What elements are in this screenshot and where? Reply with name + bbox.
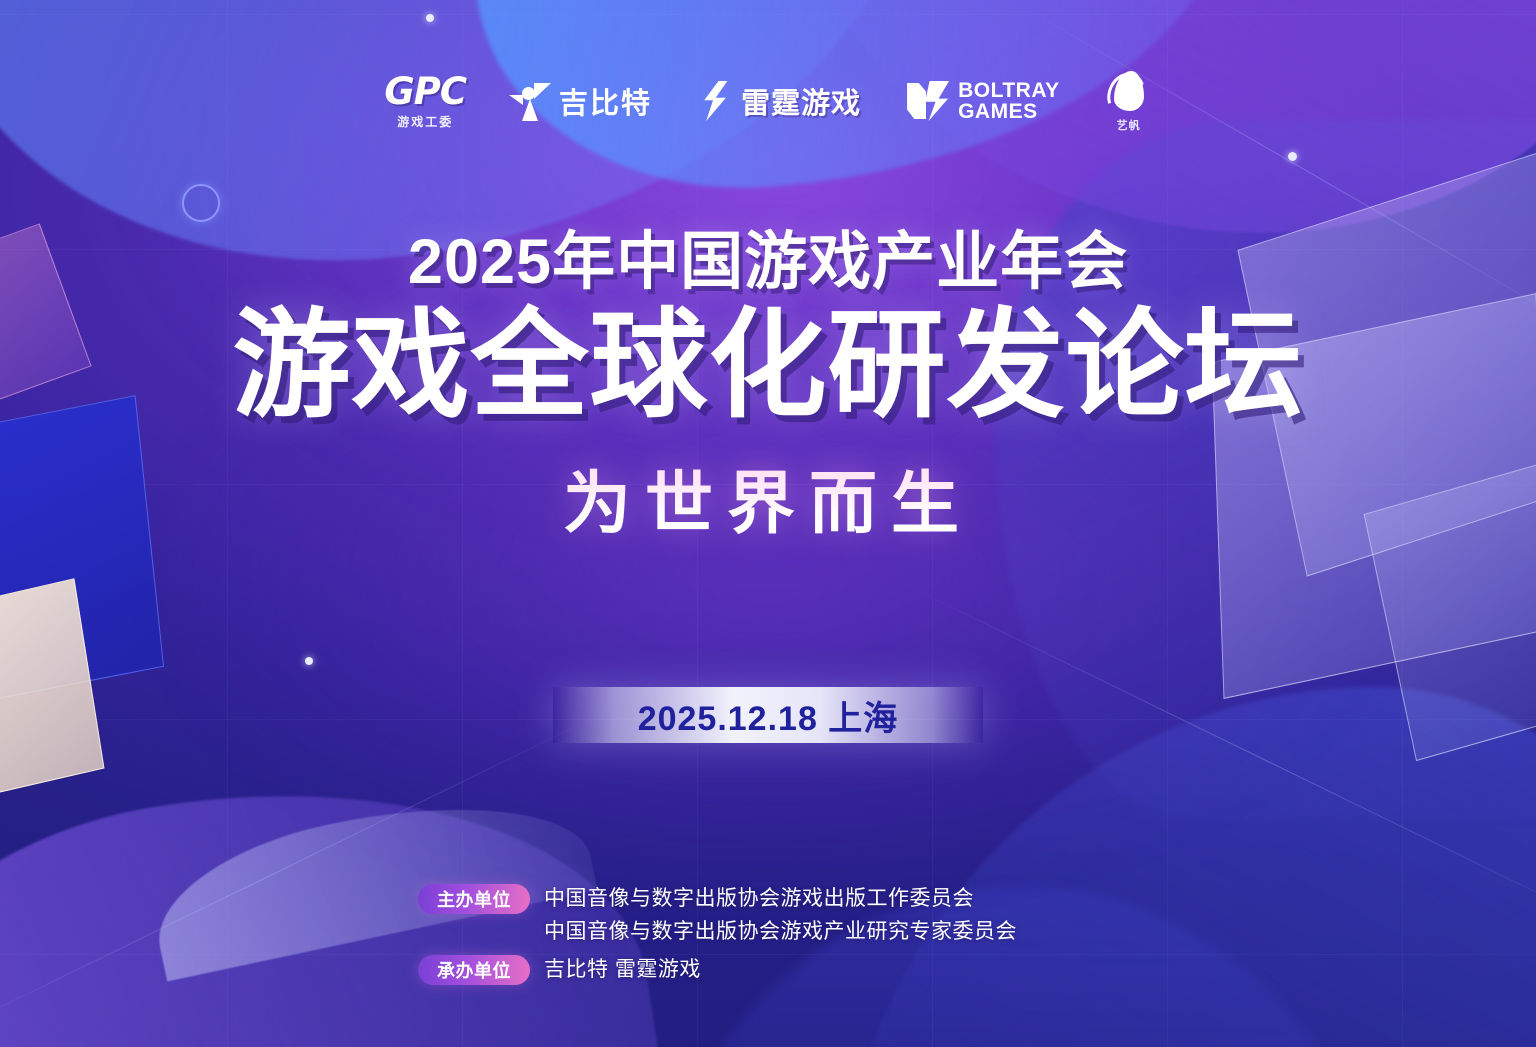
logo-boltray: BOLTRAY GAMES: [907, 80, 1060, 123]
event-poster: GPC 游戏工委 吉比特 雷霆游戏 BOLTRAY GAMES 艺帆: [0, 0, 1536, 1047]
date-location-band: 2025.12.18 上海: [553, 687, 983, 743]
event-kicker: 2025年中国游戏产业年会: [0, 228, 1536, 296]
organizer-row: 承办单位 吉比特 雷霆游戏: [418, 955, 1017, 985]
host-badge: 主办单位: [418, 884, 530, 914]
dot-decoration-top: [1288, 152, 1297, 161]
event-headline: 游戏全球化研发论坛: [0, 306, 1536, 426]
partner-logo-strip: GPC 游戏工委 吉比特 雷霆游戏 BOLTRAY GAMES 艺帆: [0, 58, 1536, 144]
sail-moon-icon: [1106, 69, 1152, 115]
host-lines: 中国音像与数字出版协会游戏出版工作委员会 中国音像与数字出版协会游戏产业研究专家…: [544, 884, 1017, 947]
leiting-label: 雷霆游戏: [741, 80, 861, 122]
boltray-line-2: GAMES: [958, 101, 1060, 122]
organizer-footer: 主办单位 中国音像与数字出版协会游戏出版工作委员会 中国音像与数字出版协会游戏产…: [418, 884, 1017, 985]
dot-decoration-mid: [426, 14, 434, 22]
dot-decoration-left: [305, 657, 313, 665]
logo-leiting: 雷霆游戏: [698, 80, 861, 122]
host-line-1: 中国音像与数字出版协会游戏出版工作委员会: [544, 885, 1017, 913]
boltray-bolt-icon: [907, 81, 949, 121]
organizer-line-1: 吉比特 雷霆游戏: [544, 956, 701, 984]
event-tagline: 为世界而生: [0, 448, 1536, 547]
boltray-label: BOLTRAY GAMES: [958, 80, 1060, 123]
glass-panel-left-cream: [0, 578, 104, 814]
boltray-line-1: BOLTRAY: [958, 80, 1060, 101]
title-block: 2025年中国游戏产业年会 游戏全球化研发论坛 为世界而生: [0, 228, 1536, 547]
host-row: 主办单位 中国音像与数字出版协会游戏出版工作委员会 中国音像与数字出版协会游戏产…: [418, 884, 1017, 947]
host-line-2: 中国音像与数字出版协会游戏产业研究专家委员会: [544, 918, 1017, 946]
logo-gbits: 吉比特: [512, 80, 652, 122]
gpc-subtitle: 游戏工委: [397, 113, 453, 130]
organizer-badge: 承办单位: [418, 955, 530, 985]
gpc-wordmark-icon: GPC: [384, 73, 466, 110]
hairline-bottom-left: [0, 713, 602, 1047]
logo-gpc: GPC 游戏工委: [384, 73, 466, 130]
date-location-text: 2025.12.18 上海: [638, 691, 899, 740]
gbits-label: 吉比特: [559, 80, 652, 122]
yifan-label: 艺帆: [1117, 117, 1141, 133]
organizer-lines: 吉比特 雷霆游戏: [544, 955, 701, 984]
ring-decoration-left: [182, 184, 220, 222]
gbits-figure-icon: [512, 81, 550, 121]
lightning-bolt-icon: [698, 81, 732, 121]
logo-yifan: 艺帆: [1106, 69, 1152, 133]
